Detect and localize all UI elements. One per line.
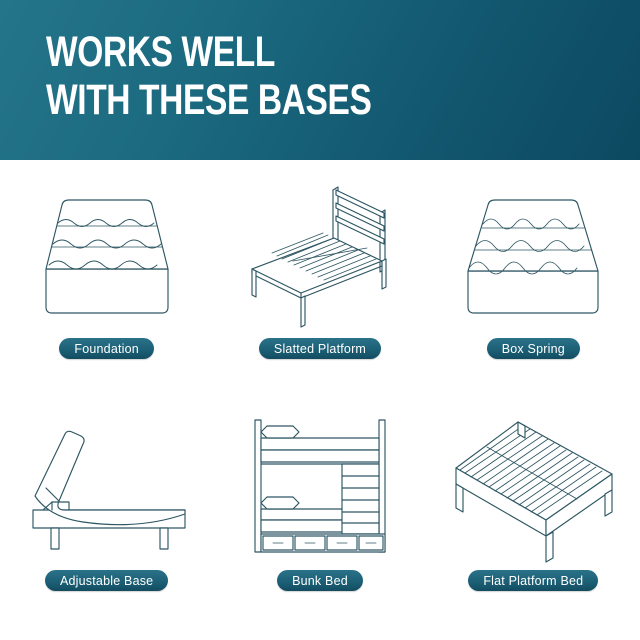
base-card-adjustable-base[interactable]: Adjustable Base	[0, 400, 213, 640]
adjustable-base-icon	[12, 408, 202, 568]
foundation-mattress-icon	[12, 174, 202, 334]
slatted-platform-bed-icon	[225, 174, 415, 334]
base-card-foundation[interactable]: Foundation	[0, 160, 213, 400]
base-card-flat-platform-bed[interactable]: Flat Platform Bed	[427, 400, 640, 640]
header-banner: Works Well With These Bases	[0, 0, 640, 160]
base-card-box-spring[interactable]: Box Spring	[427, 160, 640, 400]
base-label-bunk-bed: Bunk Bed	[277, 570, 363, 591]
flat-platform-bed-icon	[438, 408, 628, 568]
bases-grid: Foundation	[0, 160, 640, 640]
page-title: Works Well With These Bases	[46, 28, 371, 124]
poster: Works Well With These Bases	[0, 0, 640, 640]
base-card-bunk-bed[interactable]: Bunk Bed	[213, 400, 426, 640]
base-label-flat-platform-bed: Flat Platform Bed	[468, 570, 598, 591]
base-label-adjustable-base: Adjustable Base	[45, 570, 168, 591]
base-label-foundation: Foundation	[59, 338, 154, 359]
box-spring-icon	[438, 174, 628, 334]
base-label-box-spring: Box Spring	[487, 338, 580, 359]
bunk-bed-icon	[225, 408, 415, 568]
base-label-slatted-platform: Slatted Platform	[259, 338, 381, 359]
base-card-slatted-platform[interactable]: Slatted Platform	[213, 160, 426, 400]
